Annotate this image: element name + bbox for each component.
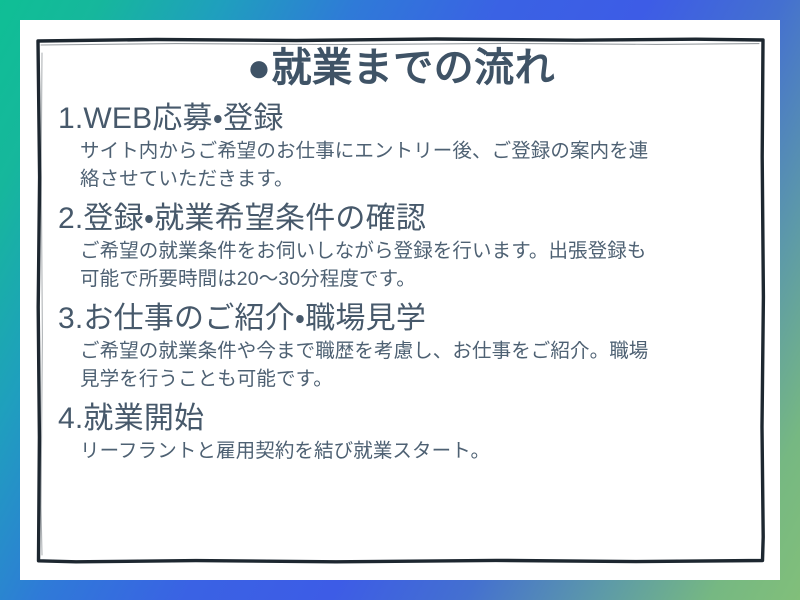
steps-list: 1.WEB応募・登録 サイト内からご希望のお仕事にエントリー後、ご登録の案内を連…: [52, 101, 750, 466]
step-body-line: ご希望の就業条件をお伺いしながら登録を行います。出張登録も: [80, 238, 750, 266]
step-body-2: ご希望の就業条件をお伺いしながら登録を行います。出張登録も 可能で所要時間は20…: [52, 238, 750, 293]
step-body-4: リーフラントと雇用契約を結び就業スタート。: [52, 438, 750, 466]
step-heading-4: 4.就業開始: [52, 401, 750, 438]
step-body-3: ご希望の就業条件や今まで職歴を考慮し、お仕事をご紹介。職場 見学を行うことも可能…: [52, 338, 750, 393]
step-item-4: 4.就業開始 リーフラントと雇用契約を結び就業スタート。: [52, 401, 750, 466]
step-body-line: サイト内からご希望のお仕事にエントリー後、ご登録の案内を連: [80, 138, 750, 166]
step-item-3: 3.お仕事のご紹介・職場見学 ご希望の就業条件や今まで職歴を考慮し、お仕事をご紹…: [52, 301, 750, 394]
step-item-1: 1.WEB応募・登録 サイト内からご希望のお仕事にエントリー後、ご登録の案内を連…: [52, 101, 750, 194]
step-body-line: 可能で所要時間は20〜30分程度です。: [80, 266, 750, 294]
step-body-line: ご希望の就業条件や今まで職歴を考慮し、お仕事をご紹介。職場: [80, 338, 750, 366]
step-body-line: リーフラントと雇用契約を結び就業スタート。: [80, 438, 750, 466]
step-heading-3: 3.お仕事のご紹介・職場見学: [52, 301, 750, 338]
content-area: ●就業までの流れ 1.WEB応募・登録 サイト内からご希望のお仕事にエントリー後…: [44, 42, 758, 558]
step-body-line: 見学を行うことも可能です。: [80, 366, 750, 394]
slide-page: ●就業までの流れ 1.WEB応募・登録 サイト内からご希望のお仕事にエントリー後…: [0, 0, 800, 600]
step-heading-1: 1.WEB応募・登録: [52, 101, 750, 138]
step-heading-2: 2.登録・就業希望条件の確認: [52, 201, 750, 238]
step-item-2: 2.登録・就業希望条件の確認 ご希望の就業条件をお伺いしながら登録を行います。出…: [52, 201, 750, 294]
page-title: ●就業までの流れ: [52, 42, 750, 91]
step-body-1: サイト内からご希望のお仕事にエントリー後、ご登録の案内を連 絡させていただきます…: [52, 138, 750, 193]
step-body-line: 絡させていただきます。: [80, 166, 750, 194]
